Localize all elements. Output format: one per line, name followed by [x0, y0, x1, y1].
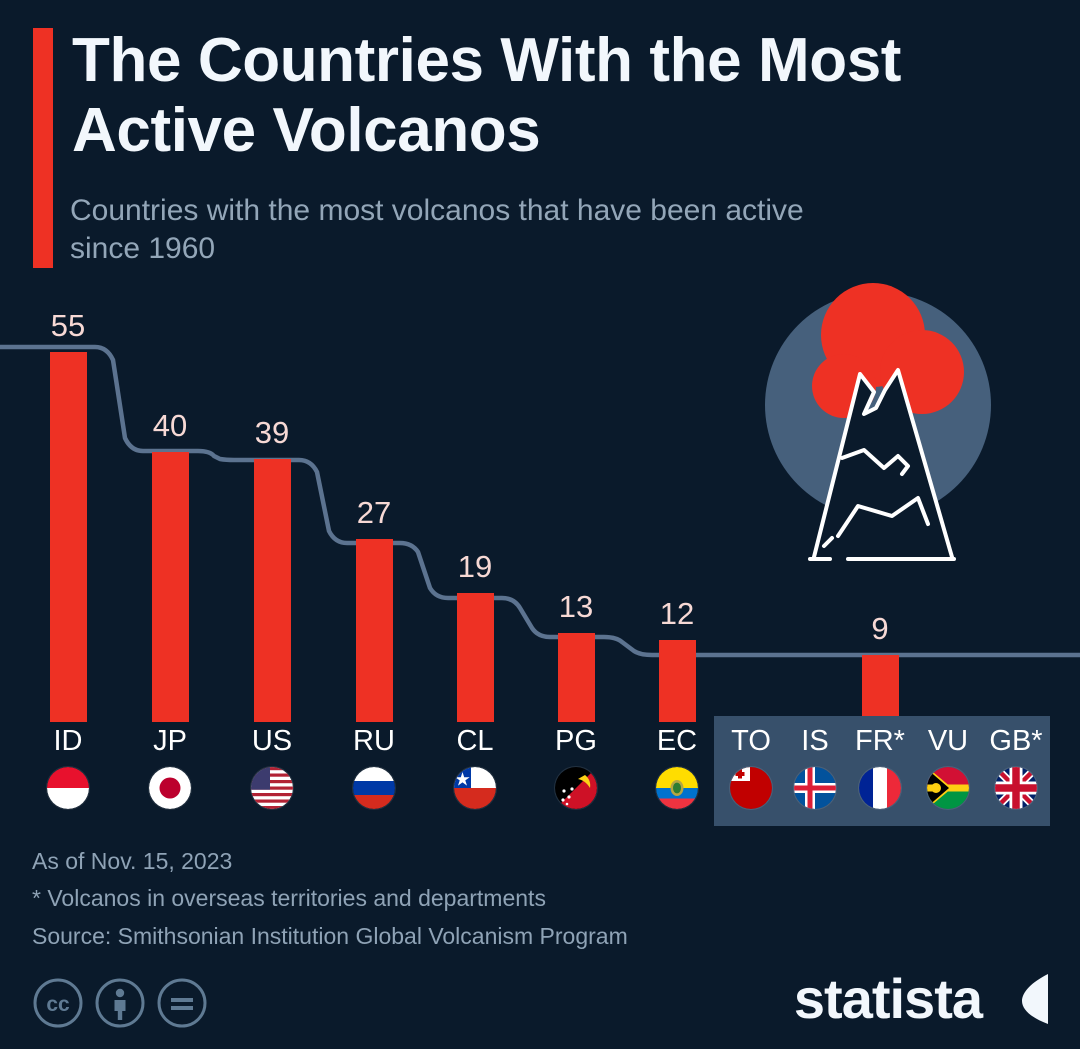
- flag-pg-icon: [555, 767, 597, 809]
- statista-mark-icon: [992, 968, 1054, 1030]
- flag-us-icon: [251, 767, 293, 809]
- page-subtitle: Countries with the most volcanos that ha…: [70, 192, 1010, 269]
- category-code-label: PG: [528, 727, 624, 756]
- value-label-ru: 27: [357, 495, 391, 531]
- flag-vu-icon: [927, 767, 969, 809]
- bar-chart-plot: 554039271913129: [0, 270, 1080, 730]
- category-code-label: CL: [427, 727, 523, 756]
- value-label-fr: 9: [871, 611, 888, 647]
- value-label-us: 39: [255, 415, 289, 451]
- infographic-page: The Countries With the Most Active Volca…: [0, 0, 1080, 1049]
- footnotes: As of Nov. 15, 2023 * Volcanos in overse…: [32, 843, 932, 955]
- flag-ru-icon: [353, 767, 395, 809]
- bar-ec[interactable]: [659, 640, 696, 722]
- value-label-ec: 12: [660, 596, 694, 632]
- flag-to-icon: [730, 767, 772, 809]
- statista-logo[interactable]: statista: [794, 968, 1054, 1030]
- flag-gb-icon: [995, 767, 1037, 809]
- category-code-label: ID: [20, 727, 116, 756]
- bar-jp[interactable]: [152, 452, 189, 722]
- bar-fr[interactable]: [862, 655, 899, 722]
- value-label-pg: 13: [559, 589, 593, 625]
- category-code-label: US: [224, 727, 320, 756]
- creative-commons-badges[interactable]: cc: [33, 978, 207, 1028]
- statista-wordmark: statista: [794, 971, 982, 1027]
- cc-nd-equals-icon[interactable]: [157, 978, 207, 1028]
- value-label-id: 55: [51, 308, 85, 344]
- bar-id[interactable]: [50, 352, 87, 722]
- bar-cl[interactable]: [457, 593, 494, 722]
- category-cl[interactable]: CL: [427, 727, 523, 809]
- flag-fr-icon: [859, 767, 901, 809]
- value-label-cl: 19: [458, 549, 492, 585]
- category-code-label: GB*: [968, 727, 1064, 756]
- category-ru[interactable]: RU: [326, 727, 422, 809]
- bar-us[interactable]: [254, 459, 291, 722]
- flag-jp-icon: [149, 767, 191, 809]
- page-title: The Countries With the Most Active Volca…: [72, 26, 1002, 166]
- flag-is-icon: [794, 767, 836, 809]
- category-jp[interactable]: JP: [122, 727, 218, 809]
- category-code-label: JP: [122, 727, 218, 756]
- category-code-label: RU: [326, 727, 422, 756]
- cc-by-person-icon[interactable]: [95, 978, 145, 1028]
- bar-pg[interactable]: [558, 633, 595, 722]
- flag-ec-icon: [656, 767, 698, 809]
- category-us[interactable]: US: [224, 727, 320, 809]
- flag-cl-icon: [454, 767, 496, 809]
- flag-id-icon: [47, 767, 89, 809]
- bar-ru[interactable]: [356, 539, 393, 722]
- svg-text:cc: cc: [46, 993, 70, 1016]
- value-label-jp: 40: [153, 408, 187, 444]
- cc-icon[interactable]: cc: [33, 978, 83, 1028]
- category-pg[interactable]: PG: [528, 727, 624, 809]
- category-gb[interactable]: GB*: [968, 727, 1064, 809]
- accent-bar: [33, 28, 53, 268]
- category-id[interactable]: ID: [20, 727, 116, 809]
